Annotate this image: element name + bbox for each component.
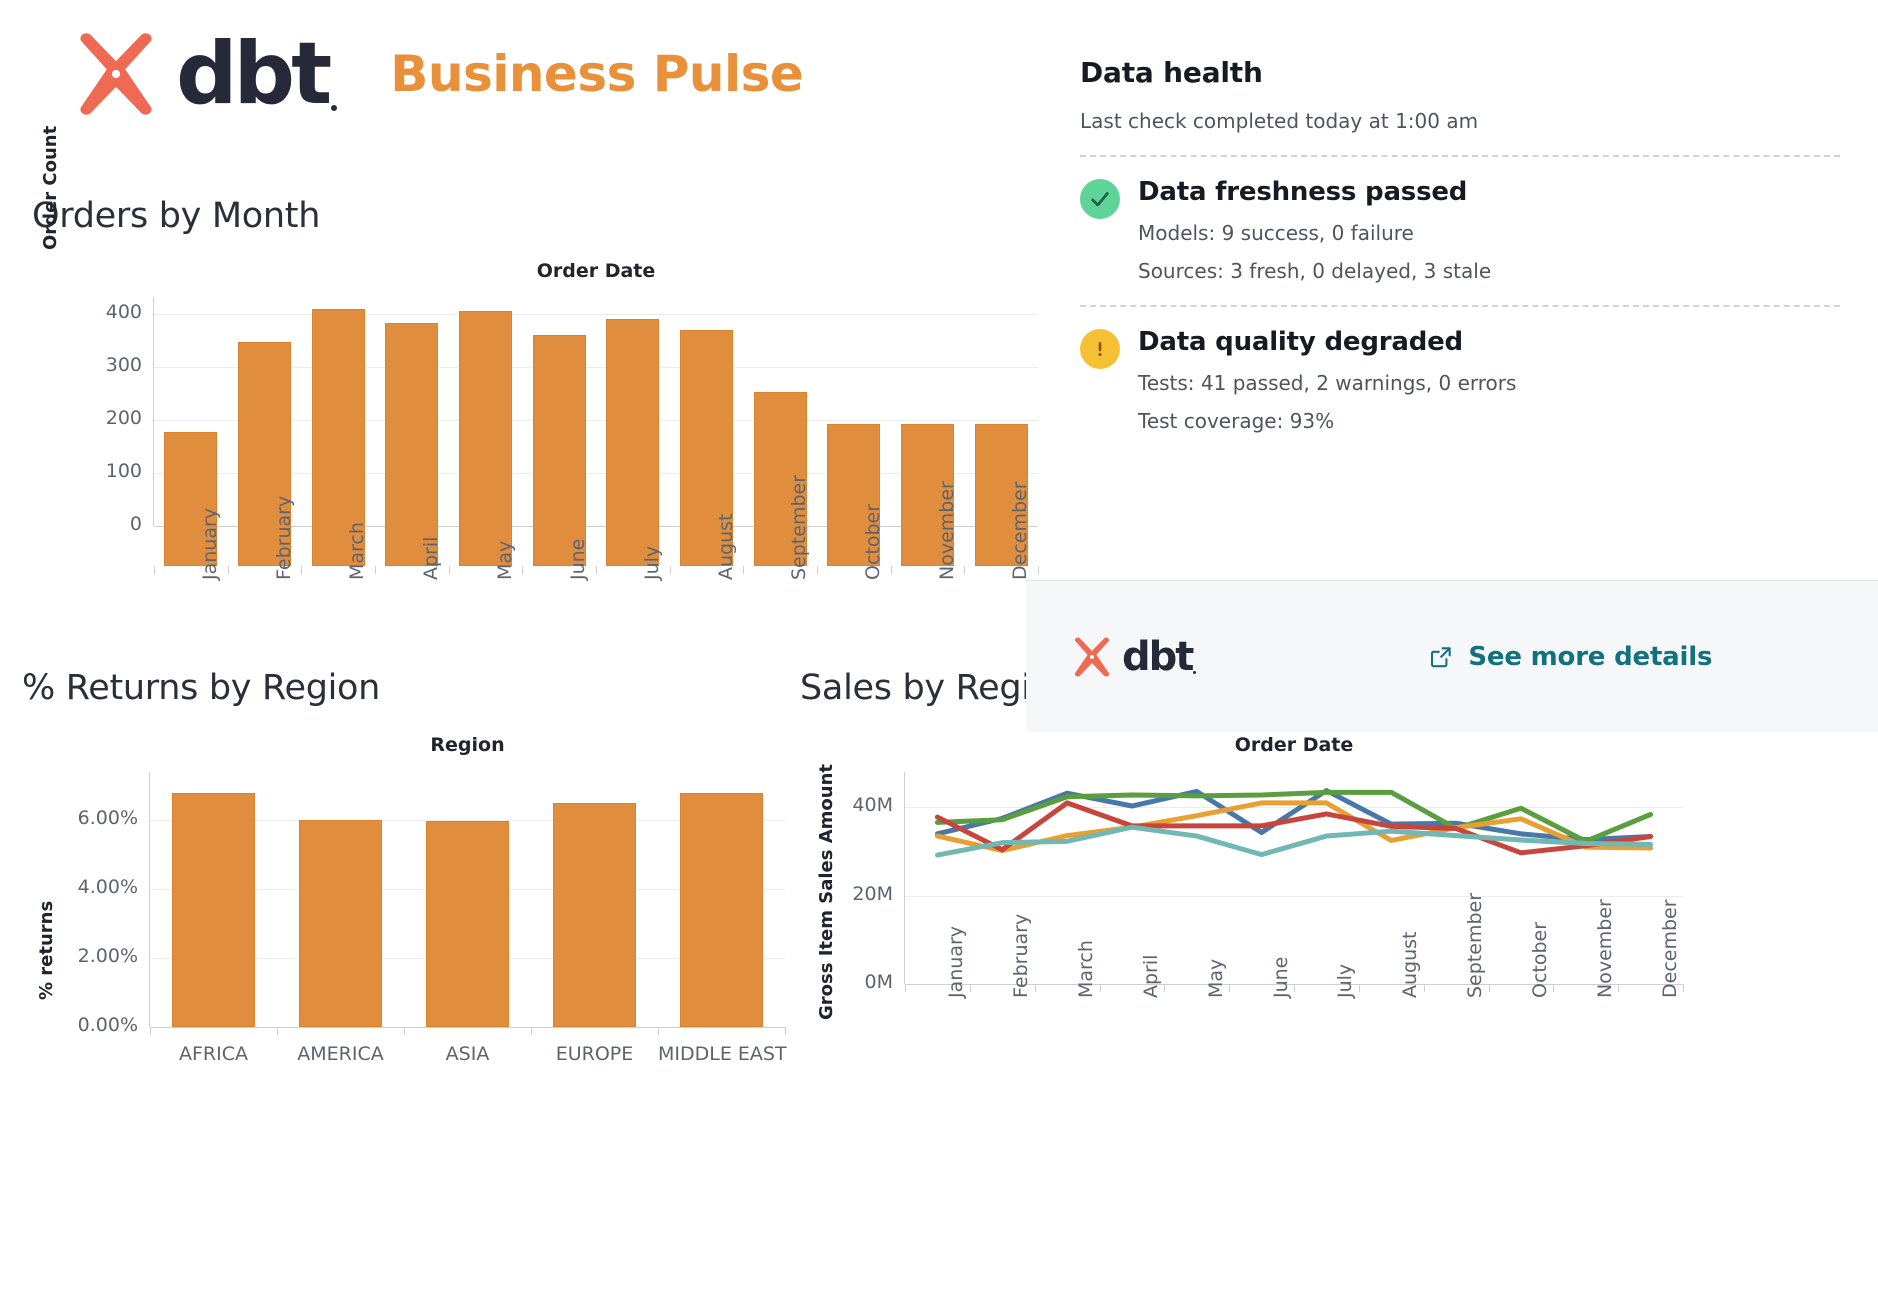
page-title: Business Pulse bbox=[390, 45, 803, 103]
x-tick-label: MIDDLE EAST bbox=[658, 1043, 785, 1065]
x-tick-label: ASIA bbox=[404, 1043, 531, 1065]
bar[interactable] bbox=[426, 821, 510, 1027]
y-tick-label: 20M bbox=[852, 883, 893, 905]
bar[interactable] bbox=[606, 319, 659, 566]
x-tick-label: December bbox=[1009, 481, 1031, 580]
x-tick-mark bbox=[1100, 984, 1101, 992]
x-tick-mark bbox=[1294, 984, 1295, 992]
dbt-logo-icon bbox=[70, 28, 162, 120]
data-health-heading: Data freshness passed bbox=[1138, 177, 1840, 207]
y-tick-label: 6.00% bbox=[78, 807, 138, 829]
external-link-icon bbox=[1428, 644, 1454, 670]
data-health-detail: Test coverage: 93% bbox=[1138, 409, 1840, 433]
y-tick-label: 40M bbox=[852, 794, 893, 816]
line-series-blue[interactable] bbox=[937, 791, 1650, 840]
data-health-detail: Tests: 41 passed, 2 warnings, 0 errors bbox=[1138, 371, 1840, 395]
x-tick-mark bbox=[743, 566, 744, 574]
x-tick-mark bbox=[228, 566, 229, 574]
y-axis-line bbox=[153, 298, 154, 526]
data-health-heading: Data quality degraded bbox=[1138, 327, 1840, 357]
x-tick-mark bbox=[1359, 984, 1360, 992]
divider bbox=[1080, 305, 1840, 307]
orders-by-month-panel: Orders by Month Order Date 0100200300400… bbox=[32, 196, 1042, 680]
bar[interactable] bbox=[553, 803, 637, 1027]
x-tick-label: EUROPE bbox=[531, 1043, 658, 1065]
x-tick-label: October bbox=[862, 504, 884, 580]
dbt-wordmark: dbt bbox=[1122, 637, 1192, 677]
y-tick-label: 0M bbox=[865, 971, 893, 993]
x-tick-mark bbox=[1618, 984, 1619, 992]
x-tick-mark bbox=[301, 566, 302, 574]
see-more-details-card: dbt See more details bbox=[1026, 580, 1878, 732]
orders-panel-title: Orders by Month bbox=[32, 196, 1042, 236]
x-tick-label: March bbox=[1075, 940, 1097, 998]
x-tick-mark bbox=[785, 1027, 786, 1035]
y-tick-label: 200 bbox=[106, 407, 142, 429]
y-tick-label: 300 bbox=[106, 354, 142, 376]
x-tick-label: February bbox=[1010, 914, 1032, 998]
bar[interactable] bbox=[680, 793, 764, 1027]
x-tick-label: August bbox=[1399, 932, 1421, 999]
x-tick-mark bbox=[964, 566, 965, 574]
x-tick-label: March bbox=[346, 522, 368, 580]
dbt-logo-small: dbt bbox=[1070, 635, 1192, 679]
x-tick-label: July bbox=[641, 546, 663, 580]
bar[interactable] bbox=[172, 793, 256, 1027]
x-tick-mark bbox=[1553, 984, 1554, 992]
x-tick-mark bbox=[905, 984, 906, 992]
x-tick-mark bbox=[449, 566, 450, 574]
x-tick-mark bbox=[1229, 984, 1230, 992]
x-tick-label: April bbox=[1140, 955, 1162, 998]
x-tick-label: June bbox=[567, 539, 589, 580]
x-tick-mark bbox=[970, 984, 971, 992]
x-tick-label: September bbox=[1464, 893, 1486, 998]
see-more-details-link[interactable]: See more details bbox=[1428, 642, 1712, 672]
sales-chart: Order Date 0M20M40MJanuaryFebruaryMarchA… bbox=[800, 734, 1870, 1134]
x-tick-label: AMERICA bbox=[277, 1043, 404, 1065]
orders-y-axis-title: Order Count bbox=[40, 126, 61, 250]
returns-by-region-panel: % Returns by Region Region 0.00%2.00%4.0… bbox=[22, 668, 822, 1134]
dashboard-header: dbt Business Pulse bbox=[70, 28, 803, 120]
x-tick-label: November bbox=[1594, 899, 1616, 998]
data-health-detail: Sources: 3 fresh, 0 delayed, 3 stale bbox=[1138, 259, 1840, 283]
x-tick-mark bbox=[1038, 566, 1039, 574]
gridline bbox=[154, 314, 1038, 315]
x-tick-mark bbox=[670, 566, 671, 574]
x-tick-label: January bbox=[199, 508, 221, 580]
x-tick-label: October bbox=[1529, 922, 1551, 998]
x-tick-mark bbox=[277, 1027, 278, 1035]
bar[interactable] bbox=[459, 311, 512, 566]
sales-y-axis-title: Gross Item Sales Amount bbox=[816, 764, 837, 1020]
y-tick-label: 4.00% bbox=[78, 876, 138, 898]
data-health-item-freshness: Data freshness passed Models: 9 success,… bbox=[1080, 177, 1840, 283]
returns-chart: Region 0.00%2.00%4.00%6.00%AFRICAAMERICA… bbox=[22, 734, 822, 1134]
orders-column-title: Order Date bbox=[154, 260, 1038, 282]
sales-column-title: Order Date bbox=[905, 734, 1683, 756]
x-tick-mark bbox=[531, 1027, 532, 1035]
x-tick-label: July bbox=[1334, 964, 1356, 998]
dbt-logo-icon bbox=[1070, 635, 1114, 679]
returns-panel-title: % Returns by Region bbox=[22, 668, 822, 708]
x-tick-mark bbox=[817, 566, 818, 574]
returns-column-title: Region bbox=[150, 734, 785, 756]
y-tick-label: 400 bbox=[106, 301, 142, 323]
y-tick-label: 100 bbox=[106, 460, 142, 482]
x-tick-label: August bbox=[715, 514, 737, 581]
data-health-subtitle: Last check completed today at 1:00 am bbox=[1080, 109, 1840, 133]
x-tick-mark bbox=[1035, 984, 1036, 992]
sales-plot-area: 0M20M40MJanuaryFebruaryMarchAprilMayJune… bbox=[905, 772, 1683, 984]
x-tick-label: June bbox=[1270, 957, 1292, 998]
data-health-item-quality: Data quality degraded Tests: 41 passed, … bbox=[1080, 327, 1840, 433]
bar[interactable] bbox=[533, 335, 586, 566]
x-tick-mark bbox=[150, 1027, 151, 1035]
x-tick-mark bbox=[596, 566, 597, 574]
dbt-wordmark: dbt bbox=[176, 31, 328, 117]
x-tick-label: February bbox=[273, 496, 295, 580]
see-more-details-label: See more details bbox=[1468, 642, 1712, 672]
x-axis-line bbox=[150, 1027, 785, 1028]
x-tick-label: April bbox=[420, 537, 442, 580]
bar[interactable] bbox=[385, 323, 438, 566]
y-axis-line bbox=[149, 772, 150, 1027]
orders-chart: Order Date 0100200300400JanuaryFebruaryM… bbox=[32, 260, 1042, 680]
x-tick-label: AFRICA bbox=[150, 1043, 277, 1065]
returns-y-axis-title: % returns bbox=[36, 901, 57, 1000]
data-health-detail: Models: 9 success, 0 failure bbox=[1138, 221, 1840, 245]
y-tick-label: 0.00% bbox=[78, 1014, 138, 1036]
sales-by-region-panel: Sales by Region Order Date 0M20M40MJanua… bbox=[800, 668, 1870, 1134]
x-tick-label: December bbox=[1659, 899, 1681, 998]
x-tick-mark bbox=[404, 1027, 405, 1035]
x-tick-mark bbox=[1683, 984, 1684, 992]
divider bbox=[1080, 155, 1840, 157]
data-health-title: Data health bbox=[1080, 56, 1840, 89]
exclamation-icon bbox=[1089, 338, 1111, 360]
x-tick-label: May bbox=[1205, 959, 1227, 998]
x-tick-mark bbox=[375, 566, 376, 574]
x-tick-label: November bbox=[936, 481, 958, 580]
orders-plot-area: 0100200300400JanuaryFebruaryMarchAprilMa… bbox=[154, 298, 1038, 526]
x-tick-mark bbox=[1424, 984, 1425, 992]
y-tick-label: 0 bbox=[130, 513, 142, 535]
x-tick-mark bbox=[522, 566, 523, 574]
bar[interactable] bbox=[299, 820, 383, 1027]
x-tick-mark bbox=[891, 566, 892, 574]
y-tick-label: 2.00% bbox=[78, 945, 138, 967]
x-tick-label: May bbox=[494, 541, 516, 580]
check-icon bbox=[1089, 188, 1111, 210]
x-tick-mark bbox=[1164, 984, 1165, 992]
x-tick-label: September bbox=[788, 475, 810, 580]
returns-plot-area: 0.00%2.00%4.00%6.00%AFRICAAMERICAASIAEUR… bbox=[150, 772, 785, 1027]
x-tick-mark bbox=[1489, 984, 1490, 992]
x-tick-mark bbox=[658, 1027, 659, 1035]
dbt-logo: dbt bbox=[70, 28, 328, 120]
x-tick-label: January bbox=[945, 926, 967, 998]
check-circle-icon bbox=[1080, 179, 1120, 219]
warning-circle-icon bbox=[1080, 329, 1120, 369]
data-health-panel: Data health Last check completed today a… bbox=[1080, 56, 1840, 433]
x-tick-mark bbox=[154, 566, 155, 574]
